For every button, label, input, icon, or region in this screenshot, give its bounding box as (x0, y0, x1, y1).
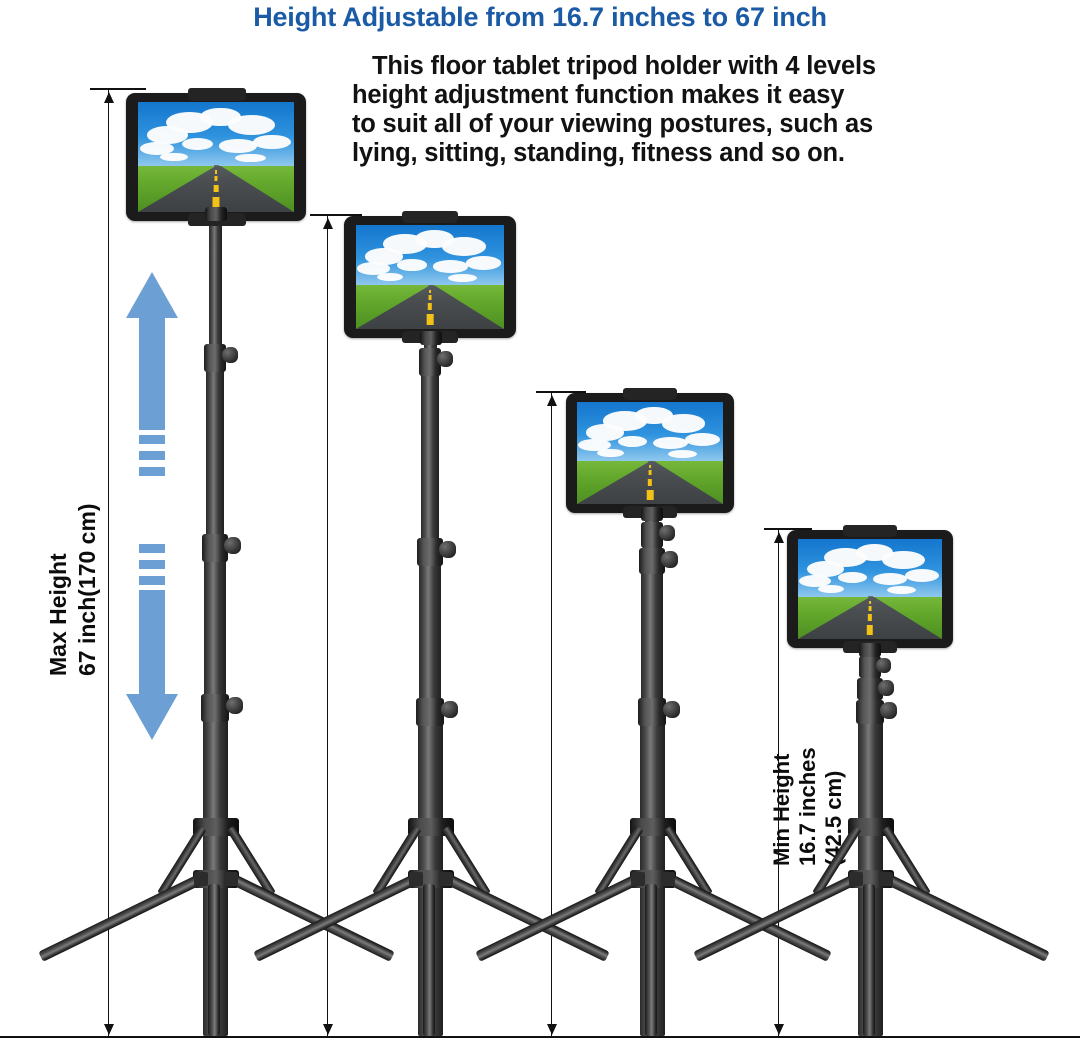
stand-4-lock-knob-3 (880, 702, 897, 719)
stand-4-mount-head (859, 643, 881, 657)
stand-4-leg-right (883, 873, 1050, 962)
stand-4-min-height (0, 0, 1080, 1046)
stand-4-tablet (787, 530, 953, 648)
screen-lane-marking (868, 614, 872, 621)
cloud (905, 569, 940, 582)
cloud (818, 585, 844, 593)
stand-4-lock-knob-1 (876, 658, 891, 673)
stand-4-lock-knob-2 (878, 680, 894, 696)
cloud (873, 573, 908, 585)
stand-4-leg-left (693, 873, 860, 962)
cloud (882, 551, 925, 569)
stand-4-leg-hinge-right (879, 872, 893, 886)
screen-lane-marking (869, 601, 871, 604)
screen-lane-marking (867, 625, 873, 635)
screen-lane-marking (869, 606, 872, 611)
cloud (887, 586, 916, 594)
cloud (838, 572, 867, 583)
stand-4-leg-hinge-left (849, 872, 863, 886)
stand-4-leg-center (863, 884, 875, 1036)
stand-4-tablet-screen (798, 539, 942, 639)
stand-4-clamp-top (843, 525, 897, 537)
